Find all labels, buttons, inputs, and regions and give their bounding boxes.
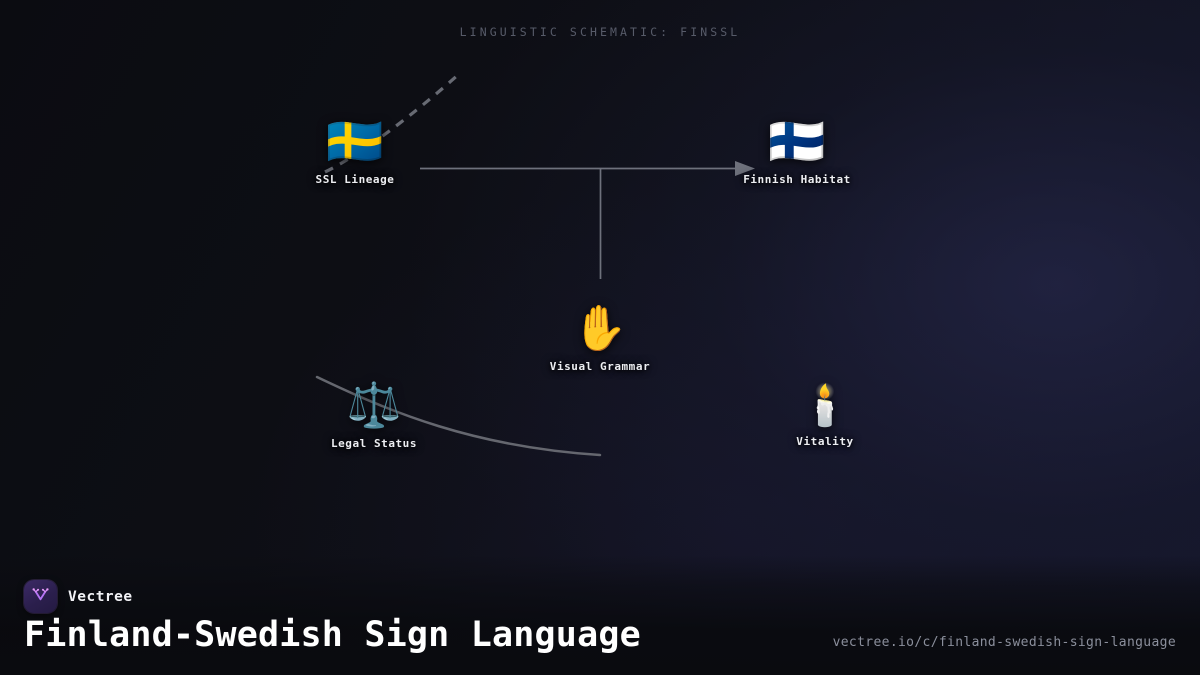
schematic-title: LINGUISTIC SCHEMATIC: FINSSL bbox=[0, 25, 1200, 39]
node-label: Vitality bbox=[796, 435, 853, 448]
node-legal-status[interactable]: ⚖️ Legal Status bbox=[331, 384, 417, 450]
brand-row[interactable]: Vectree bbox=[24, 580, 133, 613]
page-title: Finland-Swedish Sign Language bbox=[24, 615, 641, 655]
balance-scale-emoji-icon: ⚖️ bbox=[347, 384, 402, 428]
candle-emoji-icon: 🕯️ bbox=[800, 386, 850, 426]
flag-finland-emoji-icon: 🇫🇮 bbox=[768, 118, 825, 164]
page-url: vectree.io/c/finland-swedish-sign-langua… bbox=[833, 635, 1176, 650]
node-label: Legal Status bbox=[331, 437, 417, 450]
node-label: Visual Grammar bbox=[550, 360, 650, 373]
vectree-branch-logo-icon bbox=[24, 580, 57, 613]
node-visual-grammar[interactable]: ✋ Visual Grammar bbox=[550, 307, 650, 373]
brand-name: Vectree bbox=[68, 589, 133, 605]
node-label: Finnish Habitat bbox=[743, 173, 851, 186]
node-vitality[interactable]: 🕯️ Vitality bbox=[796, 386, 853, 448]
schematic-canvas: LINGUISTIC SCHEMATIC: FINSSL 🇸🇪 SSL Line… bbox=[0, 0, 1200, 675]
footer-bar: Vectree Finland-Swedish Sign Language ve… bbox=[0, 555, 1200, 675]
flag-sweden-emoji-icon: 🇸🇪 bbox=[326, 118, 383, 164]
node-label: SSL Lineage bbox=[316, 173, 395, 186]
raised-hand-emoji-icon: ✋ bbox=[573, 307, 628, 351]
node-ssl-lineage[interactable]: 🇸🇪 SSL Lineage bbox=[316, 118, 395, 186]
node-finnish-habitat[interactable]: 🇫🇮 Finnish Habitat bbox=[743, 118, 851, 186]
